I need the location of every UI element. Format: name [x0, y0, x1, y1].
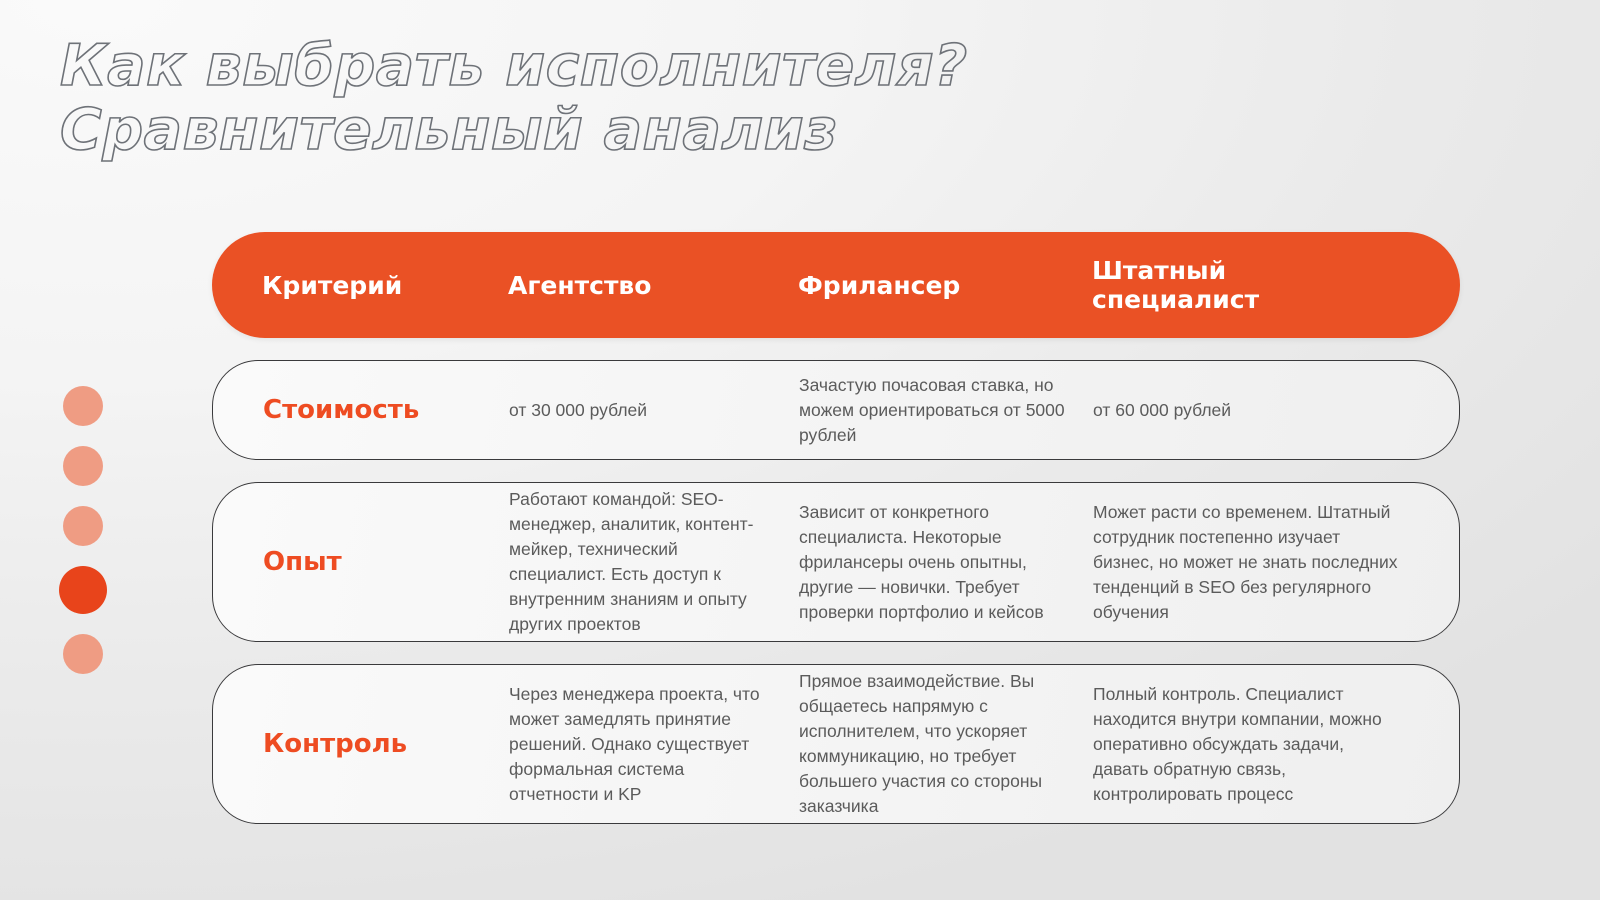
pagination-dot-3[interactable]: [63, 506, 103, 546]
slide: Как выбрать исполнителя? Сравнительный а…: [0, 0, 1600, 900]
row-label-experience: Опыт: [213, 547, 509, 577]
pagination-dot-1[interactable]: [63, 386, 103, 426]
cell-cost-inhouse: от 60 000 рублей: [1093, 398, 1411, 423]
page-title-line-2: Сравнительный анализ: [60, 98, 1160, 162]
pagination-dot-2[interactable]: [63, 446, 103, 486]
column-header-inhouse-line-1: Штатный: [1092, 256, 1410, 285]
table-row: Контроль Через менеджера проекта, что мо…: [212, 664, 1460, 824]
column-header-agency: Агентство: [508, 271, 798, 300]
cell-cost-freelancer: Зачастую почасовая ставка, но можем орие…: [799, 373, 1093, 448]
cell-experience-freelancer: Зависит от конкретного специалиста. Неко…: [799, 500, 1093, 625]
cell-control-agency: Через менеджера проекта, что может замед…: [509, 682, 799, 807]
cell-experience-agency: Работают командой: SEO-менеджер, аналити…: [509, 487, 799, 637]
column-header-inhouse: Штатный специалист: [1092, 256, 1410, 314]
table-header-row: Критерий Агентство Фрилансер Штатный спе…: [212, 232, 1460, 338]
pagination-dots: [60, 386, 106, 674]
column-header-criterion: Критерий: [212, 271, 508, 300]
column-header-freelancer: Фрилансер: [798, 271, 1092, 300]
row-label-cost: Стоимость: [213, 395, 509, 425]
cell-experience-inhouse: Может расти со временем. Штатный сотрудн…: [1093, 500, 1411, 625]
comparison-table: Критерий Агентство Фрилансер Штатный спе…: [212, 232, 1460, 824]
table-row: Опыт Работают командой: SEO-менеджер, ан…: [212, 482, 1460, 642]
table-row: Стоимость от 30 000 рублей Зачастую поча…: [212, 360, 1460, 460]
cell-control-inhouse: Полный контроль. Специалист находится вн…: [1093, 682, 1411, 807]
page-title-line-1: Как выбрать исполнителя?: [60, 34, 1160, 98]
pagination-dot-5[interactable]: [63, 634, 103, 674]
column-header-inhouse-line-2: специалист: [1092, 285, 1410, 314]
page-title: Как выбрать исполнителя? Сравнительный а…: [60, 34, 1160, 162]
cell-cost-agency: от 30 000 рублей: [509, 398, 799, 423]
row-label-control: Контроль: [213, 729, 509, 759]
cell-control-freelancer: Прямое взаимодействие. Вы общаетесь напр…: [799, 669, 1093, 819]
pagination-dot-4-active[interactable]: [59, 566, 107, 614]
